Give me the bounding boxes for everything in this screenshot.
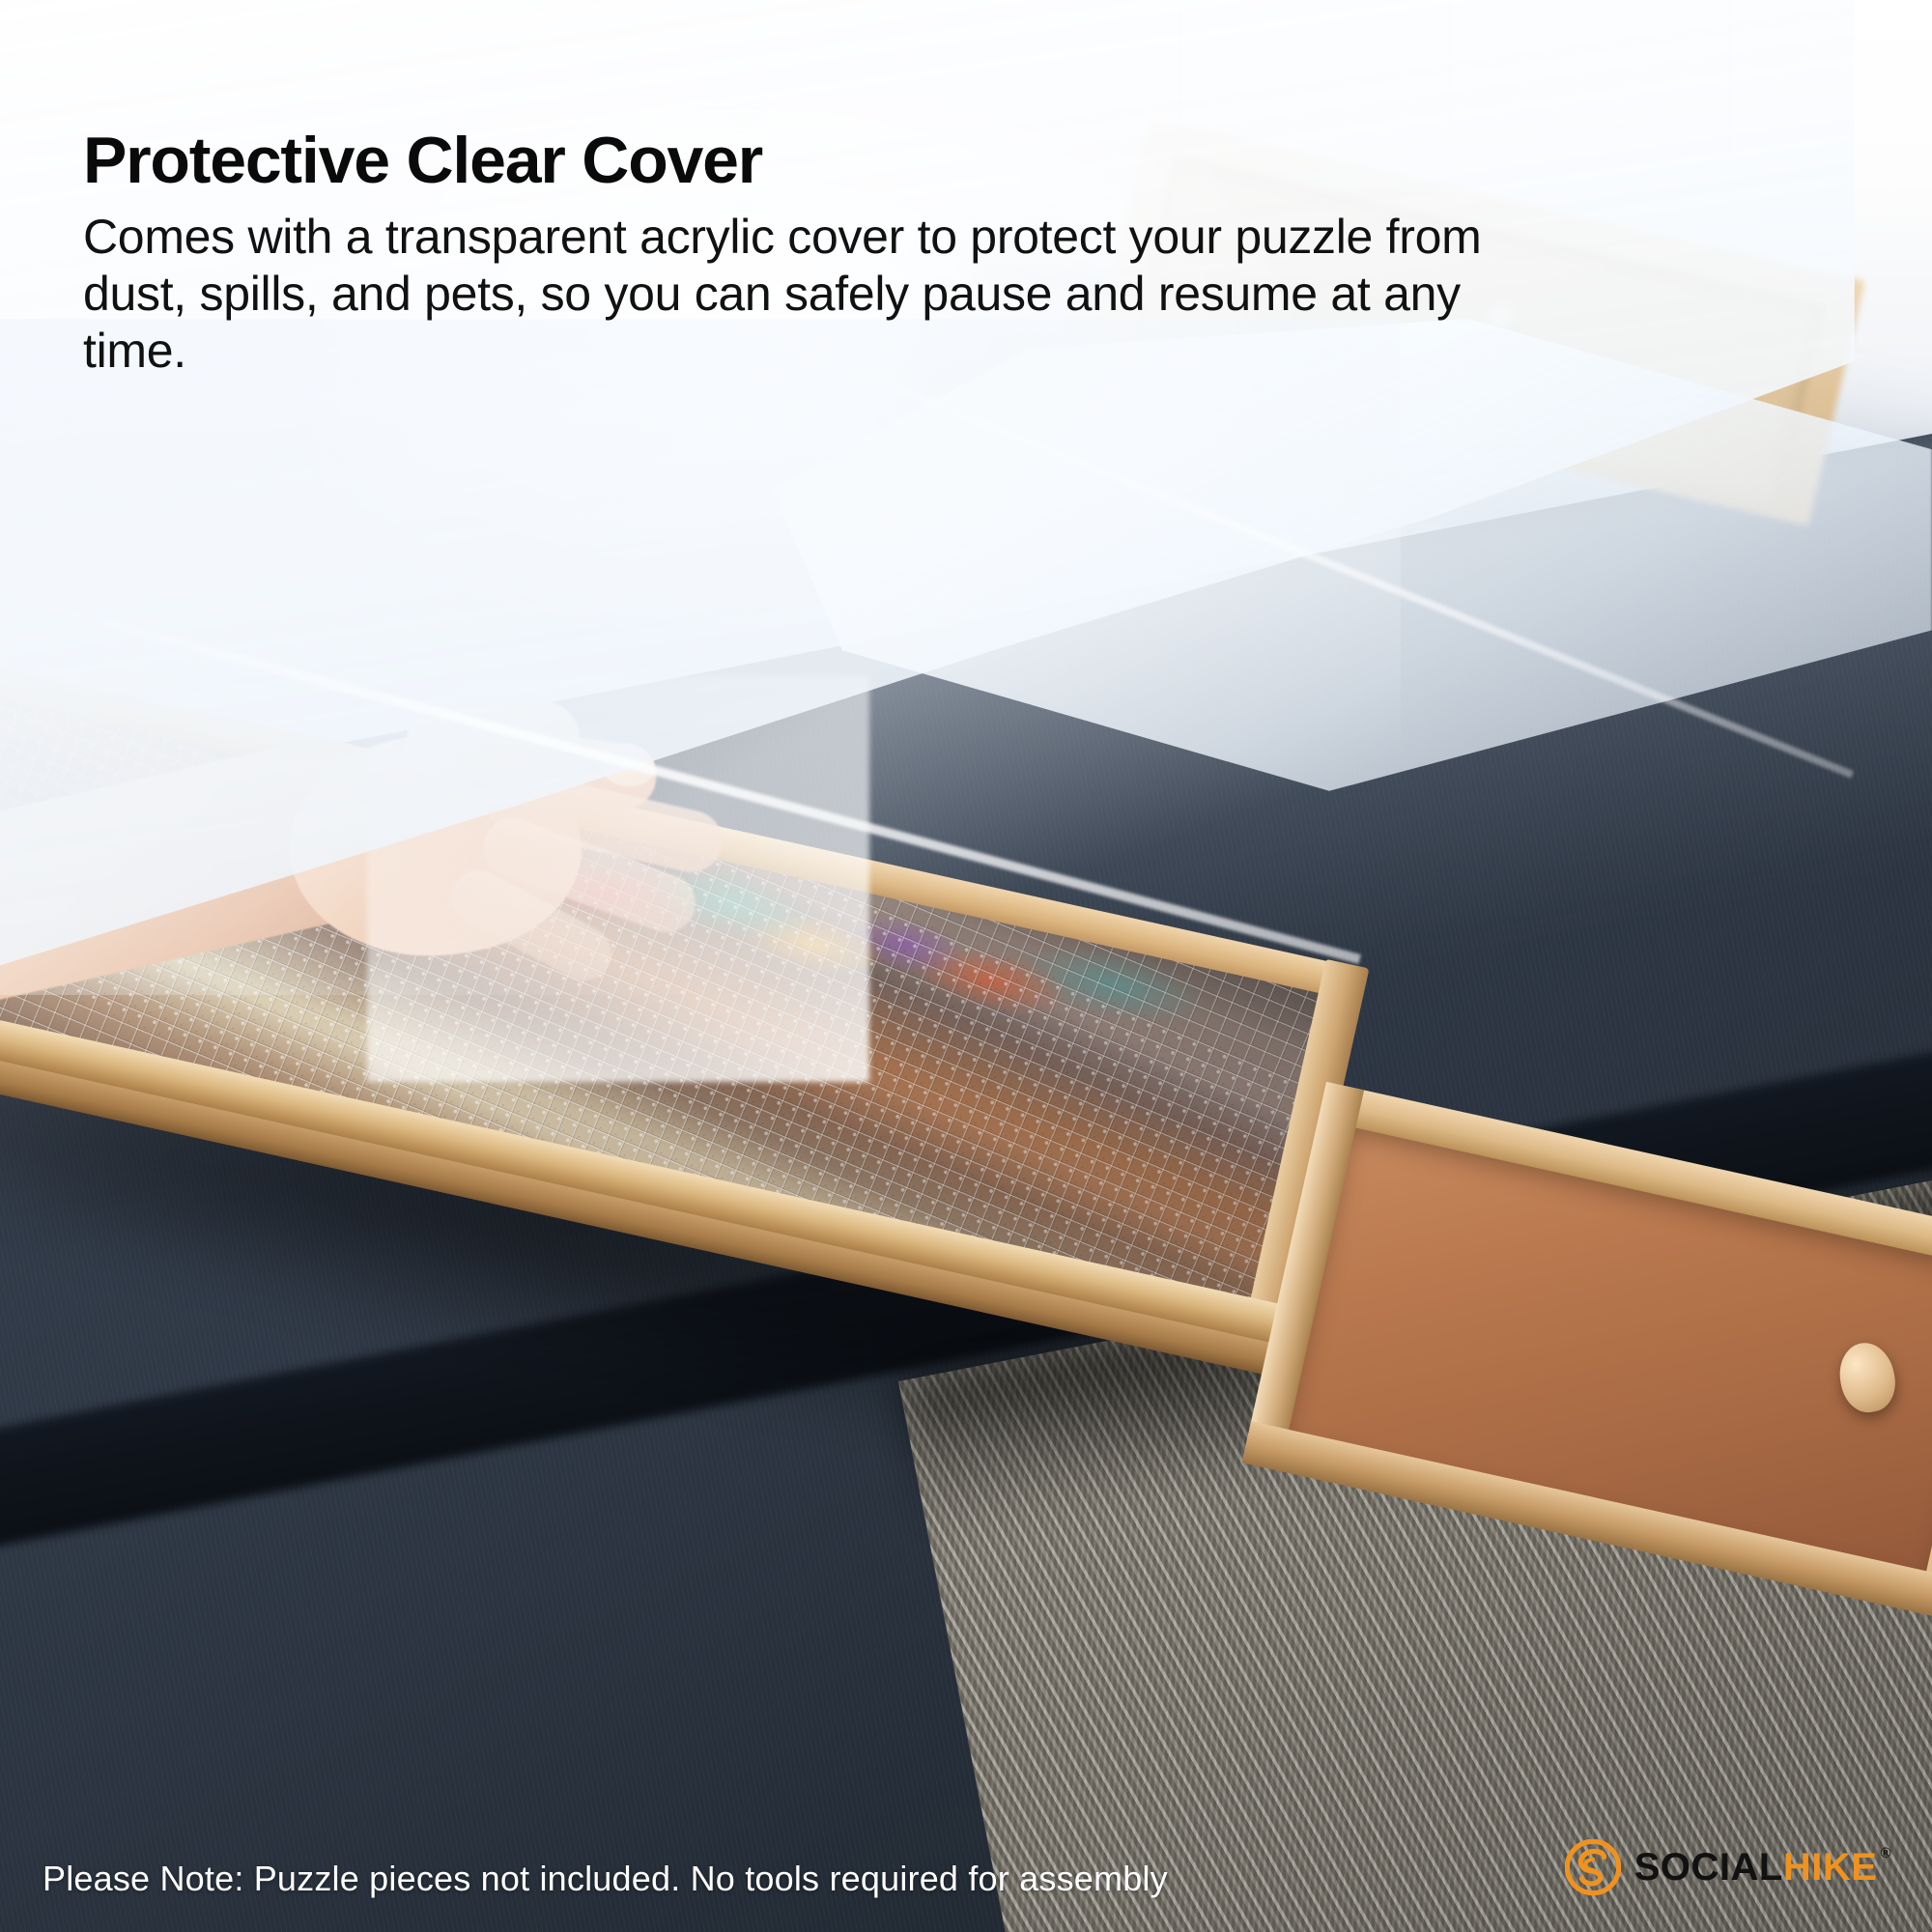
brand-name-primary: SOCIAL (1634, 1848, 1783, 1887)
page-title: Protective Clear Cover (83, 128, 1503, 193)
feature-description: Comes with a transparent acrylic cover t… (83, 209, 1503, 380)
brand-logo: SOCIAL HIKE ® (1565, 1839, 1891, 1895)
registered-trademark-symbol: ® (1880, 1846, 1891, 1861)
spiral-s-logo-icon (1565, 1839, 1621, 1895)
brand-wordmark: SOCIAL HIKE ® (1634, 1848, 1891, 1887)
brand-name-secondary: HIKE (1783, 1848, 1878, 1887)
disclaimer-note: Please Note: Puzzle pieces not included.… (43, 1859, 1168, 1899)
product-feature-image: Protective Clear Cover Comes with a tran… (0, 0, 1932, 1932)
feature-text-block: Protective Clear Cover Comes with a tran… (83, 128, 1503, 380)
